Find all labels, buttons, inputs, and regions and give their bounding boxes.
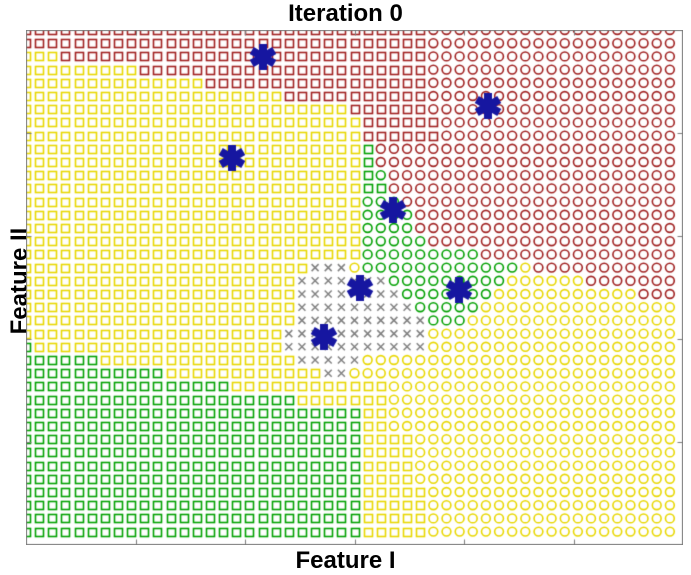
scatter-grid-canvas[interactable]: [26, 30, 683, 545]
plot-area[interactable]: [26, 30, 683, 545]
x-axis-label: Feature I: [0, 547, 691, 575]
y-axis-label-container: Feature II: [0, 0, 26, 575]
figure-root: Iteration 0 Feature II Feature I: [0, 0, 691, 575]
page-title: Iteration 0: [0, 0, 691, 28]
